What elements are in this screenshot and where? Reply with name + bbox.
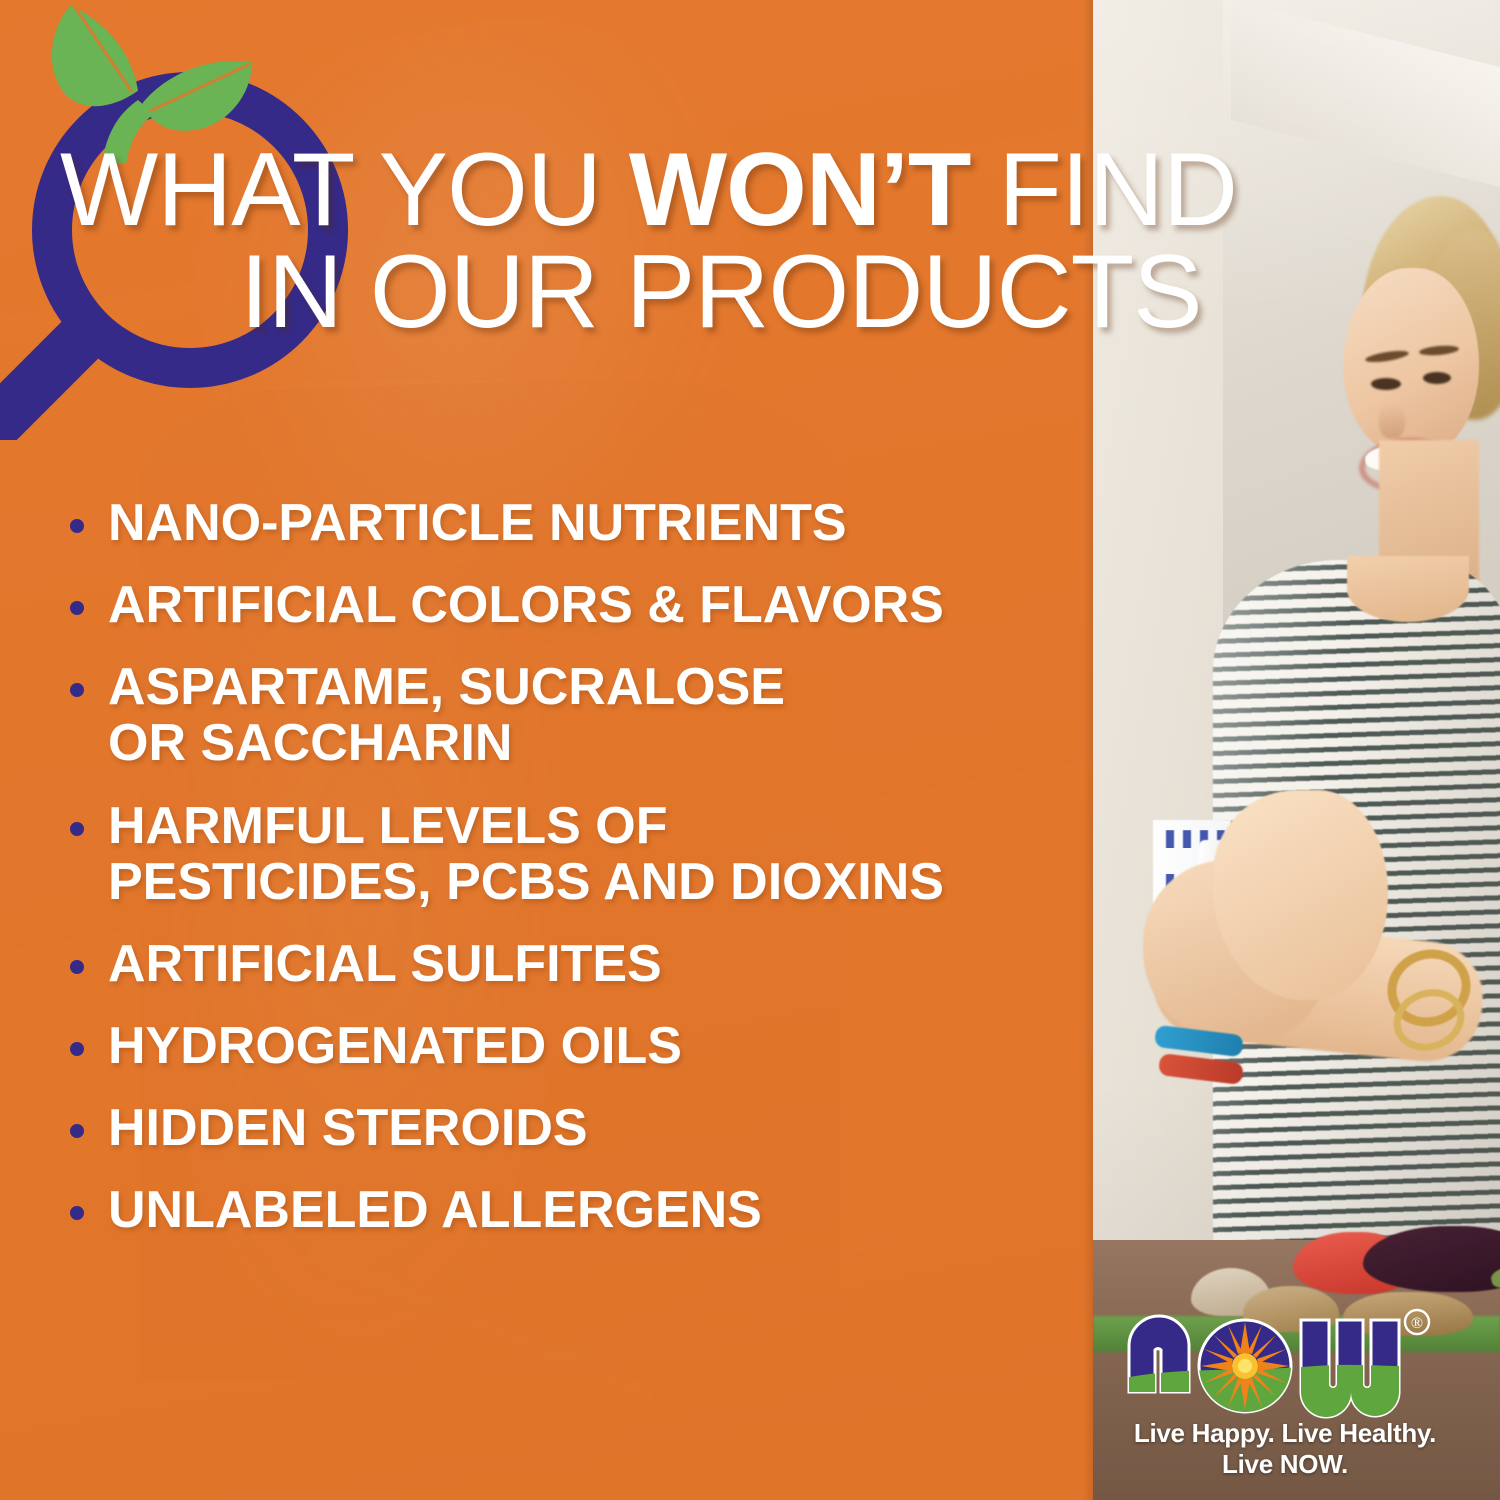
bullet-dot-icon (70, 1042, 84, 1056)
now-wordmark: ® (1115, 1300, 1455, 1425)
bullet-dot-icon (70, 683, 84, 697)
list-item: ARTIFICIAL SULFITES (70, 936, 1080, 992)
brand-tagline: Live Happy. Live Healthy. Live NOW. (1115, 1418, 1455, 1480)
bullet-dot-icon (70, 960, 84, 974)
headline-line1-post: FIND (970, 132, 1237, 248)
list-item: ARTIFICIAL COLORS & FLAVORS (70, 577, 1080, 633)
now-foods-logo: ® Live Happy. Live Healthy. Live NOW. (1115, 1300, 1465, 1470)
list-item: HARMFUL LEVELS OF PESTICIDES, PCBS AND D… (70, 798, 1080, 910)
headline-emphasis: WON’T (629, 132, 971, 248)
bullet-dot-icon (70, 601, 84, 615)
page-title: WHAT YOU WON’T FIND IN OUR PRODUCTS (60, 140, 1460, 344)
list-item-label: ASPARTAME, SUCRALOSE OR SACCHARIN (108, 659, 785, 771)
list-item-label: ARTIFICIAL SULFITES (108, 936, 662, 992)
bullet-dot-icon (70, 519, 84, 533)
list-item: UNLABELED ALLERGENS (70, 1182, 1080, 1238)
list-item-label: HYDROGENATED OILS (108, 1018, 682, 1074)
bullet-dot-icon (70, 1124, 84, 1138)
list-item: ASPARTAME, SUCRALOSE OR SACCHARIN (70, 659, 1080, 771)
list-item-label: HARMFUL LEVELS OF PESTICIDES, PCBS AND D… (108, 798, 944, 910)
bullet-dot-icon (70, 822, 84, 836)
registered-trademark-icon: ® (1405, 1310, 1429, 1334)
list-item-label: NANO-PARTICLE NUTRIENTS (108, 495, 847, 551)
list-item-label: UNLABELED ALLERGENS (108, 1182, 762, 1238)
promotional-poster: WHAT YOU WON’T FIND IN OUR PRODUCTS NANO… (0, 0, 1500, 1500)
bullet-dot-icon (70, 1206, 84, 1220)
starburst-sun-icon (1201, 1322, 1289, 1410)
headline-line2: IN OUR PRODUCTS (240, 242, 1460, 344)
list-item: HYDROGENATED OILS (70, 1018, 1080, 1074)
logo-green-landscape (1115, 1364, 1455, 1425)
headline-line1-pre: WHAT YOU (60, 132, 629, 248)
list-item-label: ARTIFICIAL COLORS & FLAVORS (108, 577, 944, 633)
list-item: NANO-PARTICLE NUTRIENTS (70, 495, 1080, 551)
list-item-label: HIDDEN STEROIDS (108, 1100, 588, 1156)
trademark-glyph: ® (1411, 1315, 1423, 1332)
excluded-ingredients-list: NANO-PARTICLE NUTRIENTS ARTIFICIAL COLOR… (70, 495, 1080, 1265)
list-item: HIDDEN STEROIDS (70, 1100, 1080, 1156)
